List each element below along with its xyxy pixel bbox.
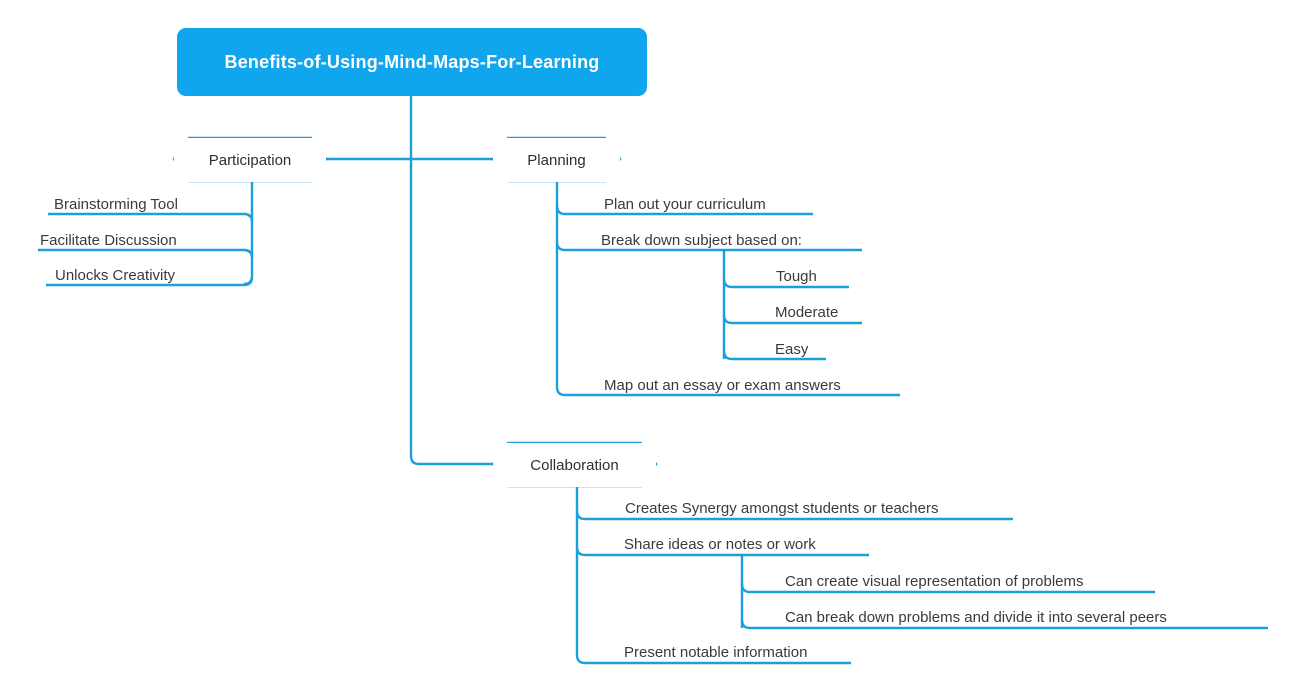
leaf-label: Can create visual representation of prob… [785,573,1084,590]
leaf-label: Creates Synergy amongst students or teac… [625,500,939,517]
leaf-plan-out-your-curriculum[interactable]: Plan out your curriculum [604,197,766,212]
connector-share-can-break [742,620,750,628]
leaf-moderate[interactable]: Moderate [775,305,838,320]
leaf-label: Facilitate Discussion [40,232,177,249]
branch-node-collaboration[interactable]: Collaboration [493,443,656,487]
spine-participation [244,181,252,284]
mind-map-canvas: Benefits-of-Using-Mind-Maps-For-Learning… [0,0,1294,695]
leaf-label: Brainstorming Tool [54,196,178,213]
connector-share-can-create [742,584,750,592]
leaf-underline-facilitate-discussion [38,250,252,258]
leaf-label: Easy [775,341,808,358]
leaf-label: Break down subject based on: [601,232,802,249]
leaf-can-create-visual-representation-of-problems[interactable]: Can create visual representation of prob… [785,574,1084,589]
leaf-map-out-an-essay-or-exam-answers[interactable]: Map out an essay or exam answers [604,378,841,393]
leaf-facilitate-discussion[interactable]: Facilitate Discussion [40,233,177,248]
trunk-down-to-collaboration [411,159,493,464]
leaf-label: Tough [776,268,817,285]
branch-node-planning-label: Planning [527,152,585,169]
leaf-break-down-subject-based-on[interactable]: Break down subject based on: [601,233,802,248]
leaf-label: Plan out your curriculum [604,196,766,213]
connector-collab-child-3 [577,655,585,663]
leaf-label: Share ideas or notes or work [624,536,816,553]
branch-node-collaboration-label: Collaboration [530,457,618,474]
leaf-creates-synergy-amongst-students-or-teachers[interactable]: Creates Synergy amongst students or teac… [625,501,939,516]
branch-node-planning[interactable]: Planning [493,138,620,182]
leaf-present-notable-information[interactable]: Present notable information [624,645,807,660]
root-node[interactable]: Benefits-of-Using-Mind-Maps-For-Learning [177,28,647,96]
leaf-underline-brainstorming-tool [48,214,252,222]
connector-layer [0,0,1294,695]
leaf-easy[interactable]: Easy [775,342,808,357]
leaf-label: Unlocks Creativity [55,267,175,284]
leaf-label: Can break down problems and divide it in… [785,609,1167,626]
leaf-brainstorming-tool[interactable]: Brainstorming Tool [54,197,178,212]
root-node-label: Benefits-of-Using-Mind-Maps-For-Learning [225,52,600,73]
leaf-label: Map out an essay or exam answers [604,377,841,394]
connector-subject-moderate [724,315,732,323]
connector-subject-easy [724,351,732,359]
leaf-tough[interactable]: Tough [776,269,817,284]
branch-node-participation[interactable]: Participation [174,138,326,182]
connector-collab-child-2 [577,547,585,555]
leaf-can-break-down-problems-and-divide-it-into-several-peers[interactable]: Can break down problems and divide it in… [785,610,1167,625]
leaf-share-ideas-or-notes-or-work[interactable]: Share ideas or notes or work [624,537,816,552]
connector-subject-tough [724,279,732,287]
branch-node-participation-label: Participation [209,152,292,169]
connector-collab-child-1 [577,511,585,519]
leaf-unlocks-creativity[interactable]: Unlocks Creativity [55,268,175,283]
leaf-label: Present notable information [624,644,807,661]
leaf-label: Moderate [775,304,838,321]
connector-planning-child-3 [557,387,565,395]
connector-planning-child-2 [557,242,565,250]
connector-planning-child-1 [557,206,565,214]
